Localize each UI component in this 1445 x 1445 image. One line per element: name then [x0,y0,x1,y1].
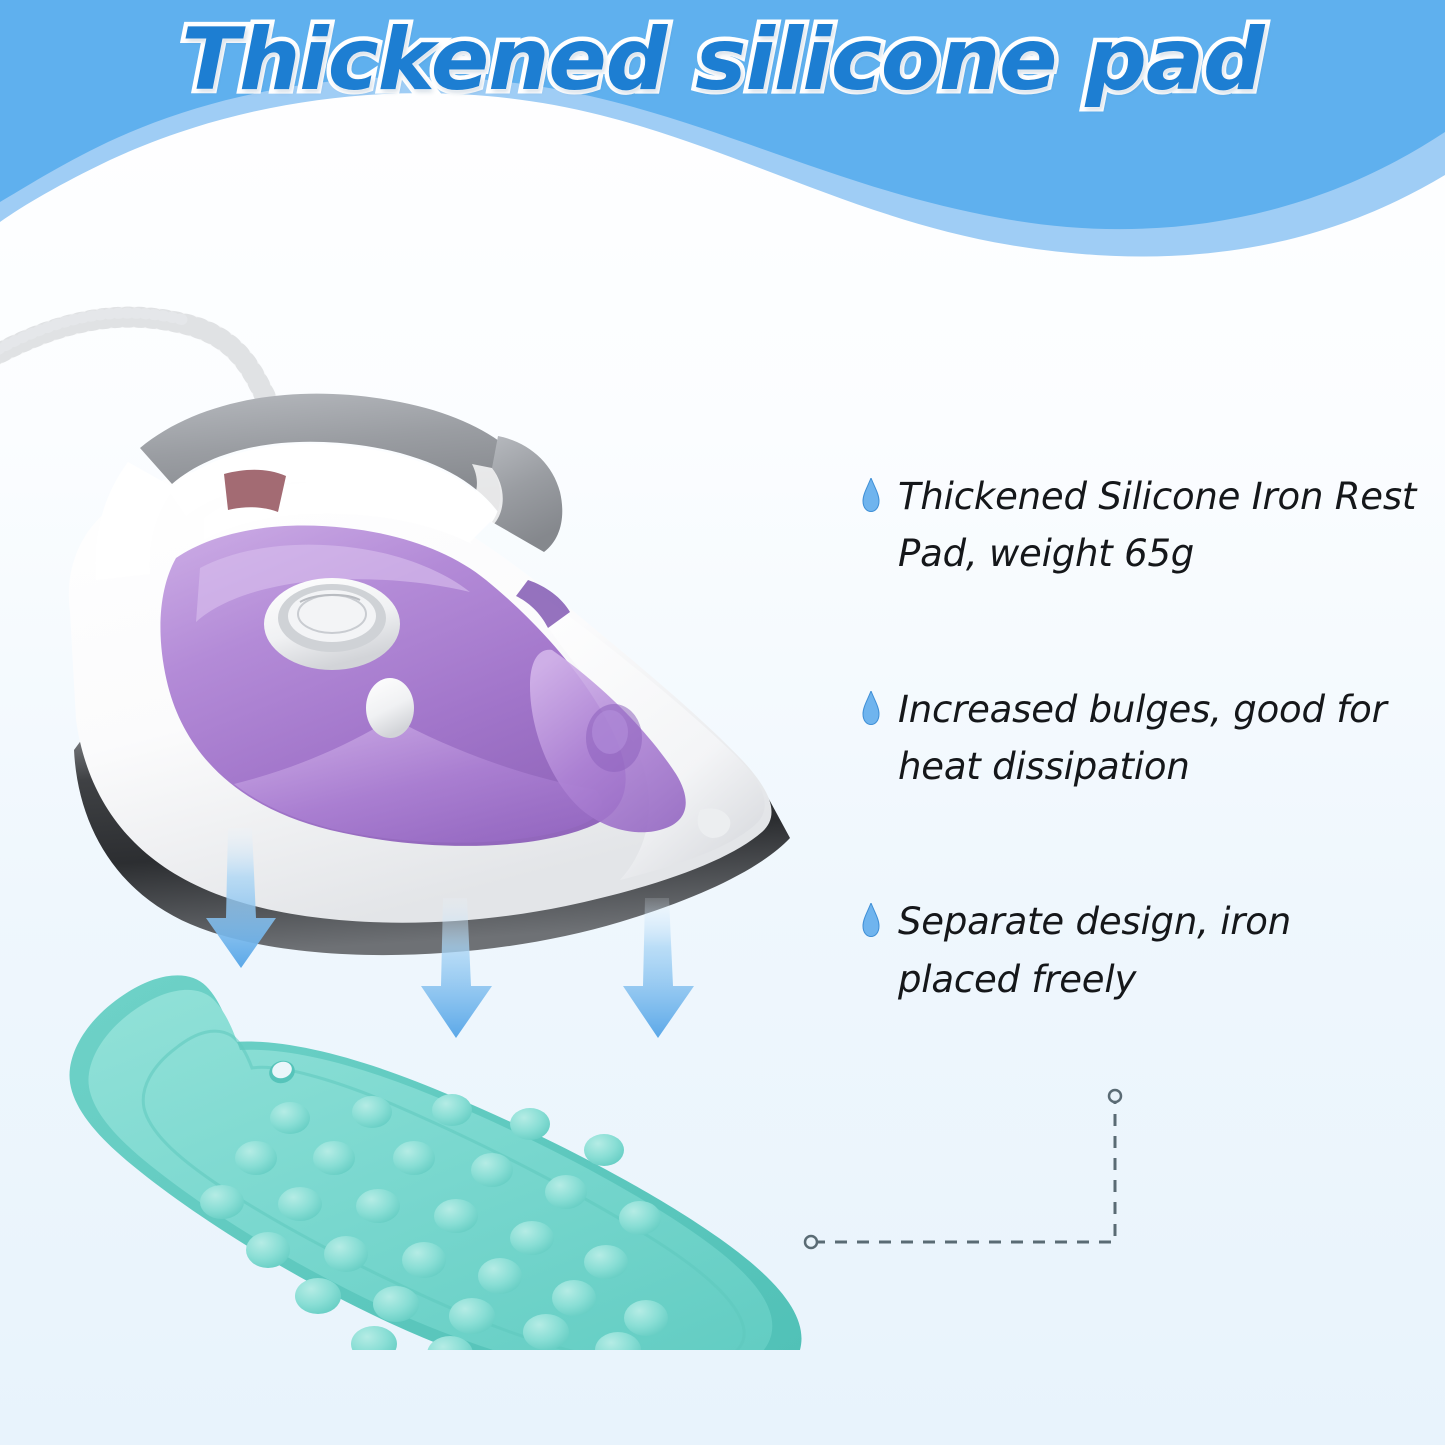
power-cord [0,313,268,402]
product-illustration [0,250,860,1350]
pad-surface [88,990,772,1350]
iron-droplet-bullet-icon [862,903,880,937]
feature-item: Thickened Silicone Iron Rest Pad, weight… [862,468,1422,583]
iron-and-pad-graphic [0,250,860,1350]
steam-iron [69,394,790,955]
product-infographic-page: Thickened silicone pad [0,0,1445,1445]
iron-droplet-bullet-icon [862,691,880,725]
feature-text: Thickened Silicone Iron Rest Pad, weight… [898,468,1418,583]
iron-droplet-bullet-icon [862,478,880,512]
feature-item: Separate design, iron placed freely [862,893,1422,1008]
iron-spray-button [366,678,414,738]
page-title: Thickened silicone pad [0,10,1445,110]
down-arrow [623,898,694,1038]
feature-text: Increased bulges, good for heat dissipat… [898,681,1418,796]
dashed-leader-line [780,1070,1180,1300]
iron-steam-dial [264,578,400,670]
iron-indicator-window [224,470,286,512]
header-banner: Thickened silicone pad [0,0,1445,260]
feature-item: Increased bulges, good for heat dissipat… [862,681,1422,796]
feature-text: Separate design, iron placed freely [898,893,1418,1008]
feature-list: Thickened Silicone Iron Rest Pad, weight… [862,468,1422,1008]
leader-line-graphic [780,1070,1180,1300]
silicone-iron-rest-pad [69,975,801,1350]
leader-endpoint-top [1109,1090,1121,1102]
leader-path [813,1098,1115,1242]
iron-rear-cap [492,436,562,552]
leader-endpoint-pad [805,1236,817,1248]
